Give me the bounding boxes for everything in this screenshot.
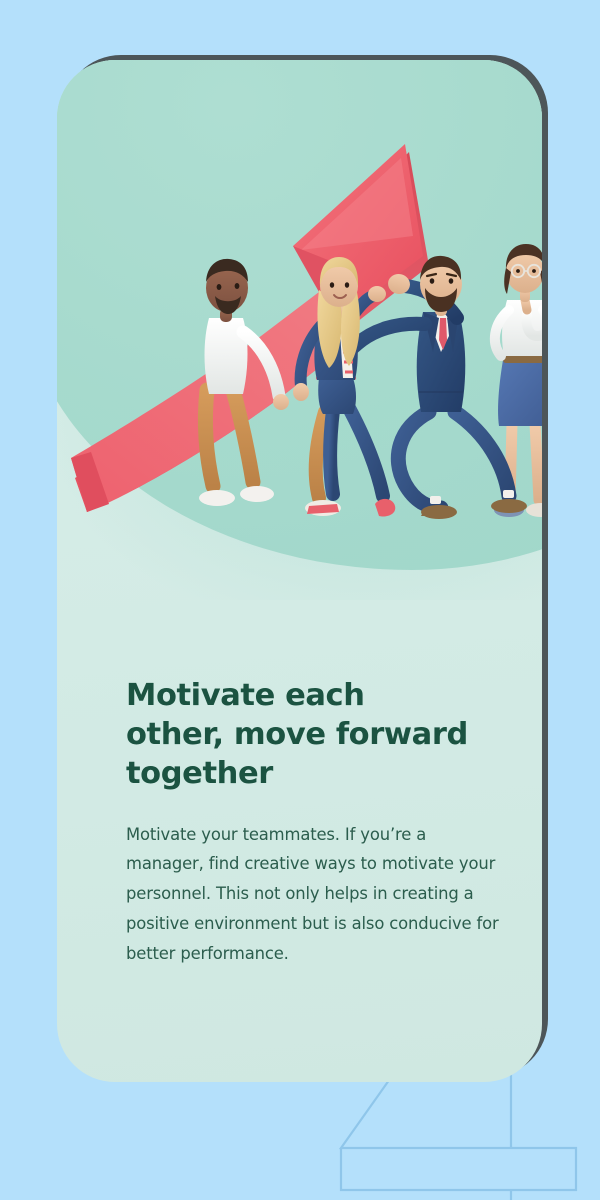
page-title: Motivate each other, move forward togeth… [126, 676, 506, 794]
body-paragraph: Motivate your teammates. If you’re a man… [126, 820, 506, 969]
team-lifting-growth-arrow-illustration [57, 60, 542, 600]
character-man-white-shirt [199, 259, 289, 506]
text-block: Motivate each other, move forward togeth… [126, 676, 506, 969]
character-woman-blonde-tracksuit [293, 257, 395, 517]
card-surface: Motivate each other, move forward togeth… [57, 60, 542, 1082]
slide-card: Motivate each other, move forward togeth… [57, 60, 542, 1082]
illustration-panel [57, 60, 542, 600]
